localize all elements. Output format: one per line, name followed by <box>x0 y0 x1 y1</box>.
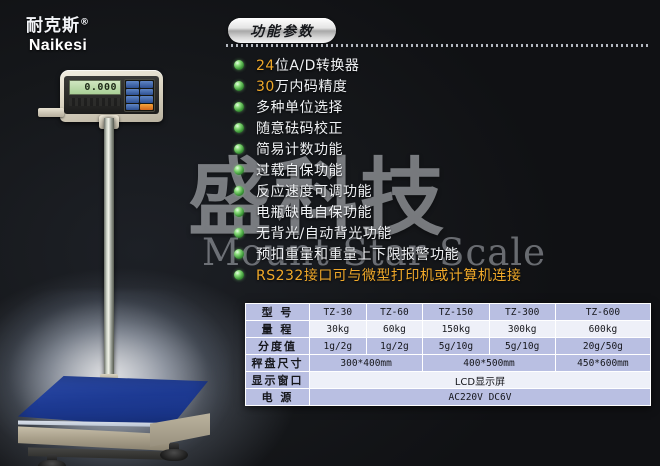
section-title-badge: 功能参数 <box>228 18 336 43</box>
keypad-key <box>126 96 139 103</box>
feature-item: RS232接口可与微型打印机或计算机连接 <box>230 264 650 285</box>
header-divider <box>226 44 650 47</box>
feature-item: 过载自保功能 <box>230 159 650 180</box>
feature-item-label: 多种单位选择 <box>256 97 343 117</box>
bullet-icon <box>234 81 244 91</box>
foot-pad <box>160 449 188 461</box>
spec-panel: 功能参数 盛科技 Mount Star Scale 24位A/D转换器30万内码… <box>222 10 654 456</box>
feature-item-label: 无背光/自动背光功能 <box>256 223 392 243</box>
table-row: 量 程30kg60kg150kg300kg600kg <box>246 321 651 338</box>
product-photo: 0.000 <box>0 58 215 458</box>
adjustable-foot <box>160 443 188 461</box>
keypad-key-power <box>140 104 153 111</box>
row-label: 量 程 <box>246 321 310 338</box>
bullet-icon <box>234 60 244 70</box>
feature-item: 预扣重量和重量上下限报警功能 <box>230 243 650 264</box>
row-label: 电 源 <box>246 389 310 406</box>
table-cell: 1g/2g <box>366 338 423 355</box>
table-cell: 300*400mm <box>310 355 423 372</box>
support-column <box>104 118 114 380</box>
table-cell: 30kg <box>310 321 367 338</box>
row-label: 显示窗口 <box>246 372 310 389</box>
brand-name-en: Naikesi <box>26 38 90 54</box>
feature-item-label: 24位A/D转换器 <box>256 55 359 75</box>
table-row: 秤盘尺寸300*400mm400*500mm450*600mm <box>246 355 651 372</box>
table-cell: 5g/10g <box>423 338 489 355</box>
feature-item-label: RS232接口可与微型打印机或计算机连接 <box>256 265 521 285</box>
table-cell: TZ-300 <box>489 304 555 321</box>
bullet-icon <box>234 102 244 112</box>
indicator-label-strip <box>69 98 121 106</box>
spec-table: 型 号TZ-30TZ-60TZ-150TZ-300TZ-600量 程30kg60… <box>245 303 651 406</box>
table-cell: 450*600mm <box>555 355 650 372</box>
feature-item: 随意砝码校正 <box>230 117 650 138</box>
table-cell: AC220V DC6V <box>310 389 651 406</box>
table-cell: LCD显示屏 <box>310 372 651 389</box>
brand-logo: 耐克斯® Naikesi <box>26 18 90 54</box>
table-row: 显示窗口LCD显示屏 <box>246 372 651 389</box>
bullet-icon <box>234 123 244 133</box>
table-cell: 1g/2g <box>310 338 367 355</box>
lcd-reading: 0.000 <box>84 82 117 93</box>
keypad-key <box>126 104 139 111</box>
table-cell: 300kg <box>489 321 555 338</box>
table-cell: 400*500mm <box>423 355 556 372</box>
indicator-mount-bracket <box>38 108 64 117</box>
bullet-icon <box>234 144 244 154</box>
table-cell: TZ-60 <box>366 304 423 321</box>
product-image-canvas: 耐克斯® Naikesi 0.000 <box>0 0 660 466</box>
table-cell: TZ-30 <box>310 304 367 321</box>
feature-item-label: 电瓶缺电自保功能 <box>256 202 372 222</box>
foot-pad <box>38 460 66 466</box>
feature-item-label: 随意砝码校正 <box>256 118 343 138</box>
lcd-display: 0.000 <box>69 80 121 95</box>
feature-item: 无背光/自动背光功能 <box>230 222 650 243</box>
keypad-key <box>126 81 139 88</box>
table-cell: 150kg <box>423 321 489 338</box>
bullet-icon <box>234 207 244 217</box>
keypad-key <box>126 89 139 96</box>
feature-item-label: 简易计数功能 <box>256 139 343 159</box>
bullet-icon <box>234 228 244 238</box>
table-cell: 20g/50g <box>555 338 650 355</box>
keypad-key <box>140 89 153 96</box>
feature-item-label: 30万内码精度 <box>256 76 347 96</box>
feature-item-label: 过载自保功能 <box>256 160 343 180</box>
keypad-key <box>140 96 153 103</box>
table-row: 电 源AC220V DC6V <box>246 389 651 406</box>
feature-item-label: 反应速度可调功能 <box>256 181 372 201</box>
keypad-key <box>140 81 153 88</box>
feature-item: 24位A/D转换器 <box>230 54 650 75</box>
feature-item: 30万内码精度 <box>230 75 650 96</box>
registered-trademark-icon: ® <box>80 17 90 27</box>
brand-name-cn: 耐克斯® <box>26 18 90 35</box>
feature-list: 24位A/D转换器30万内码精度多种单位选择随意砝码校正简易计数功能过载自保功能… <box>230 54 650 285</box>
indicator-keypad <box>124 79 155 112</box>
bullet-icon <box>234 249 244 259</box>
adjustable-foot <box>38 454 66 466</box>
section-title: 功能参数 <box>250 21 314 41</box>
row-label: 型 号 <box>246 304 310 321</box>
table-row: 型 号TZ-30TZ-60TZ-150TZ-300TZ-600 <box>246 304 651 321</box>
feature-item: 简易计数功能 <box>230 138 650 159</box>
bullet-icon <box>234 186 244 196</box>
table-cell: TZ-600 <box>555 304 650 321</box>
indicator-faceplate: 0.000 <box>64 76 159 114</box>
table-row: 分度值1g/2g1g/2g5g/10g5g/10g20g/50g <box>246 338 651 355</box>
feature-item-label: 预扣重量和重量上下限报警功能 <box>256 244 459 264</box>
table-cell: 5g/10g <box>489 338 555 355</box>
table-cell: TZ-150 <box>423 304 489 321</box>
row-label: 秤盘尺寸 <box>246 355 310 372</box>
feature-item: 反应速度可调功能 <box>230 180 650 201</box>
bullet-icon <box>234 270 244 280</box>
feature-item: 电瓶缺电自保功能 <box>230 201 650 222</box>
spec-table-wrapper: 型 号TZ-30TZ-60TZ-150TZ-300TZ-600量 程30kg60… <box>245 303 651 406</box>
bullet-icon <box>234 165 244 175</box>
table-cell: 600kg <box>555 321 650 338</box>
feature-item: 多种单位选择 <box>230 96 650 117</box>
row-label: 分度值 <box>246 338 310 355</box>
table-cell: 60kg <box>366 321 423 338</box>
